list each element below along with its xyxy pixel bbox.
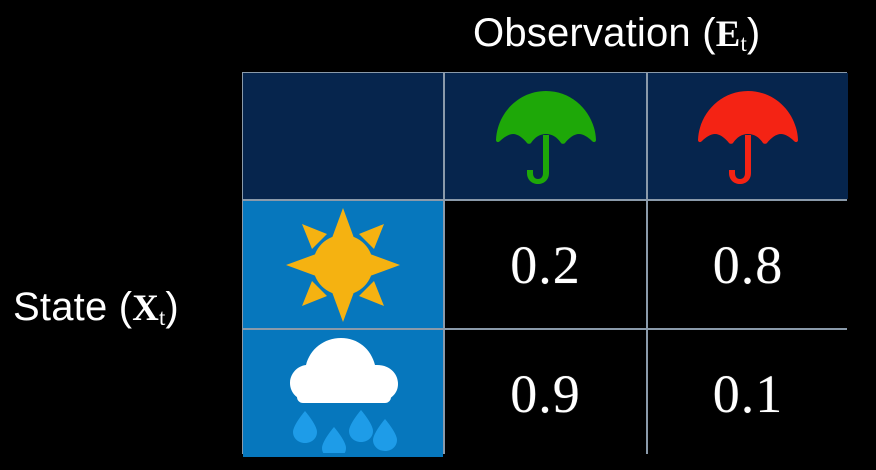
probability-value: 0.8: [713, 238, 784, 292]
umbrella-red-icon: [648, 73, 848, 199]
probability-value: 0.1: [713, 367, 784, 421]
table-corner-cell: [243, 73, 443, 199]
column-axis-title-prefix: Observation: [473, 11, 691, 55]
value-cell-rain-umbrella-red: 0.1: [648, 330, 848, 457]
column-axis-title: Observation (Et): [473, 9, 760, 68]
rain-cloud-icon: [243, 330, 443, 457]
column-axis-open-paren: (: [702, 11, 716, 55]
sun-icon: [243, 201, 443, 328]
value-cell-sun-umbrella-red: 0.8: [648, 201, 848, 328]
column-header-umbrella-green: [445, 73, 646, 199]
value-cell-sun-umbrella-green: 0.2: [445, 201, 646, 328]
row-axis-variable: Xt: [132, 287, 165, 328]
row-axis-title: State (Xt): [13, 283, 179, 342]
value-cell-rain-umbrella-green: 0.9: [445, 330, 646, 457]
row-axis-title-prefix: State: [13, 285, 107, 329]
probability-matrix-table: 0.2 0.8 0.9 0: [242, 72, 847, 454]
row-header-sun: [243, 201, 443, 328]
column-axis-close-paren: ): [747, 11, 761, 55]
row-axis-close-paren: ): [165, 285, 179, 329]
column-header-umbrella-red: [648, 73, 848, 199]
row-axis-open-paren: (: [119, 285, 133, 329]
column-axis-variable: Et: [716, 13, 747, 54]
row-header-rain-cloud: [243, 330, 443, 457]
probability-value: 0.9: [510, 367, 581, 421]
umbrella-green-icon: [445, 73, 646, 199]
probability-value: 0.2: [510, 238, 581, 292]
